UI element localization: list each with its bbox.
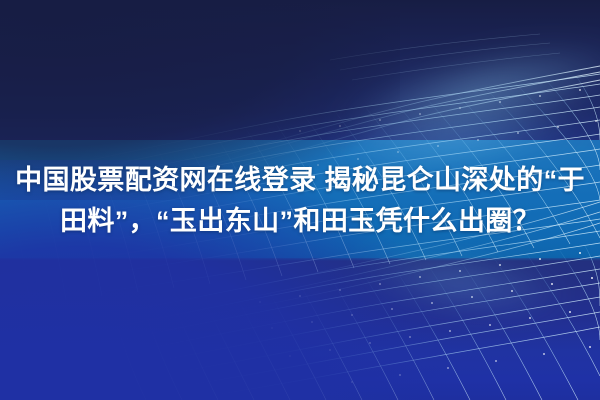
banner-image: 中国股票配资网在线登录 揭秘昆仑山深处的“于田料”，“玉出东山”和田玉凭什么出圈… <box>0 0 600 400</box>
banner-headline: 中国股票配资网在线登录 揭秘昆仑山深处的“于田料”，“玉出东山”和田玉凭什么出圈… <box>0 160 600 242</box>
